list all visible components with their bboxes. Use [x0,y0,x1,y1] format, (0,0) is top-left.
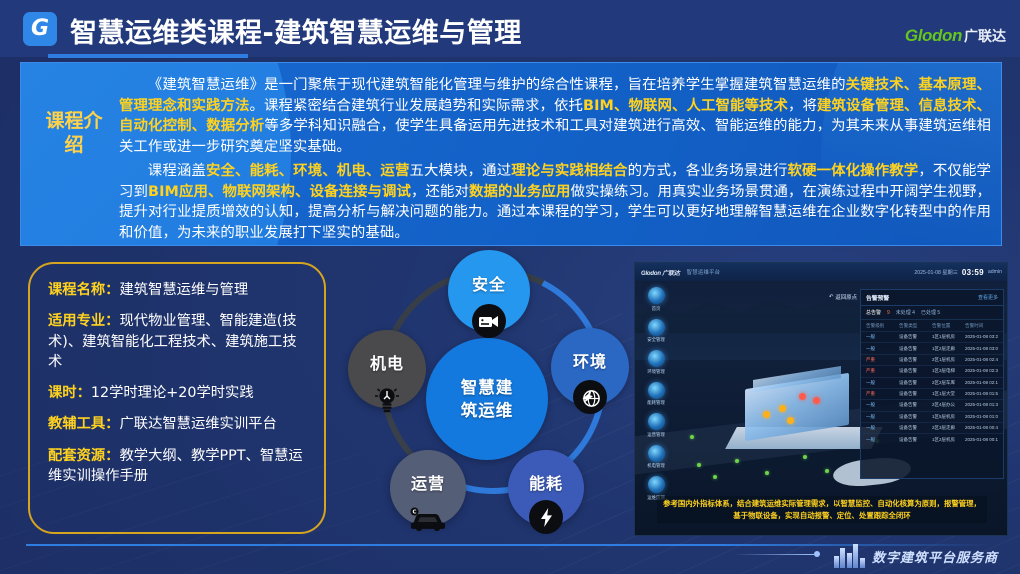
alarm-cell-level: 一般 [866,414,899,420]
alarm-cell-type: 设备告警 [899,334,932,340]
alarm-table-row[interactable]: 一般设备告警2区4层办公2025-01-08 01:32 [861,399,1003,410]
diagram-node-safety[interactable]: 安全 [448,250,530,332]
alarm-panel: 告警预警 查看更多 总告警9未处理 4已处理 5 告警级别告警类型告警位置告警时… [860,289,1004,479]
alarm-cell-type: 设备告警 [899,425,932,431]
diagram-node-energy[interactable]: 能耗 [508,450,584,526]
alarm-tab[interactable]: 总告警 [866,309,881,316]
diagram-node-mechanical-label: 机电 [370,350,404,374]
screenshot-brand: Glodon 广联达 [641,268,680,277]
alarm-cell-type: 设备告警 [899,391,932,397]
footer-brand: 数字建筑平台服务商 [834,544,998,568]
body-text: ，将 [788,98,817,114]
alarm-table-body: 一般设备告警1区1层机房2025-01-08 03:21一般设备告警1区2层走廊… [861,331,1003,445]
sidebar-module-icon [648,382,665,399]
course-info-key: 教辅工具： [48,416,119,432]
alarm-table-row[interactable]: 一般设备告警2区2层车库2025-01-08 02:10 [861,377,1003,388]
highlighted-text: BIM应用、物联网架构、设备连接与调试 [148,184,411,200]
building-marker [787,417,794,424]
alarm-cell-loc: 2区1层机房 [932,357,965,363]
highlighted-text: 安全、能耗、环境、机电、运营 [206,163,410,179]
course-info-value: 12学时理论+20学时实践 [91,385,254,401]
screenshot-user: admin [988,269,1002,275]
diagram-node-environment[interactable]: 环境 [551,328,629,406]
brand-name-en: Glodon [905,26,962,46]
course-info-key: 适用专业： [48,313,119,329]
alarm-cell-loc: 2区3层走廊 [932,425,965,431]
footer-lead-line [734,554,814,555]
screenshot-tree [713,475,717,479]
alarm-tab[interactable]: 已处理 5 [921,309,940,316]
screenshot-reset-view-button[interactable]: ↶ 返回原点 [829,293,857,301]
alarm-tab[interactable]: 9 [887,310,890,316]
alarm-table-row[interactable]: 一般设备告警1区2层走廊2025-01-08 03:02 [861,342,1003,353]
sidebar-module-icon [648,476,665,493]
glodon-g-logo-letter: G [31,18,49,40]
alarm-table-row[interactable]: 一般设备告警1区5层机房2025-01-08 01:08 [861,411,1003,422]
alarm-cell-level: 一般 [866,437,899,443]
diagram-node-operation[interactable]: 运营 C [390,450,466,526]
brand-logo: Glodon 广联达 [905,26,1006,46]
alarm-cell-loc: 2区4层办公 [932,402,965,408]
course-info-key: 配套资源： [48,448,119,464]
page-title: 智慧运维类课程-建筑智慧运维与管理 [70,10,522,50]
course-info-row: 教辅工具：广联达智慧运维实训平台 [48,414,308,434]
screenshot-tree [690,435,694,439]
course-info-card: 课程名称：建筑智慧运维与管理适用专业：现代物业管理、智能建造(技术)、建筑智能化… [28,262,326,534]
sidebar-module-label: 环境管理 [647,369,665,375]
alarm-table-row[interactable]: 严重设备告警1区1层大堂2025-01-08 01:55 [861,388,1003,399]
alarm-cell-loc: 1区3层电梯 [932,368,965,374]
course-info-row: 配套资源：教学大纲、教学PPT、智慧运维实训操作手册 [48,446,308,487]
screenshot-sidebar-item[interactable]: 运营管理 [639,413,673,438]
body-text: 五大模块，通过 [409,163,511,179]
alarm-cell-type: 设备告警 [899,380,932,386]
screenshot-caption: 参考国内外指标体系，结合建筑运维实际管理需求，以智慧监控、自动化核算为原则，报警… [657,496,987,523]
alarm-panel-title: 告警预警 [866,293,889,302]
screenshot-topbar: Glodon 广联达 智慧运维平台 2025-01-08 星期三 03:59 a… [635,263,1007,281]
sidebar-module-icon [648,413,665,430]
alarm-cell-time: 2025-01-08 03:02 [965,346,998,352]
alarm-cell-loc: 2区2层车库 [932,380,965,386]
alarm-cell-type: 设备告警 [899,357,932,363]
course-info-key: 课时： [48,385,91,401]
glodon-g-logo-icon: G [23,12,57,46]
screenshot-tree [735,459,739,463]
skyline-icon [834,544,865,568]
alarm-cell-type: 设备告警 [899,368,932,374]
alarm-cell-level: 一般 [866,334,899,340]
alarm-cell-time: 2025-01-08 02:47 [965,357,998,363]
sidebar-module-label: 首页 [652,306,661,312]
building-marker [763,411,770,418]
screenshot-date: 2025-01-08 星期三 [914,269,958,276]
building-marker [779,405,786,412]
alarm-cell-loc: 1区5层机房 [932,414,965,420]
screenshot-sidebar-item[interactable]: 首页 [639,287,673,312]
alarm-cell-time: 2025-01-08 00:19 [965,437,998,443]
screenshot-sidebar-item[interactable]: 安全管理 [639,319,673,344]
video-camera-icon [472,304,506,338]
alarm-cell-time: 2025-01-08 00:47 [965,425,998,431]
alarm-cell-level: 一般 [866,425,899,431]
screenshot-tree [697,463,701,467]
alarm-cell-loc: 1区1层机房 [932,334,965,340]
course-info-value: 建筑智慧运维与管理 [119,282,248,298]
globe-arrow-icon [573,380,607,414]
alarm-cell-loc: 1区2层走廊 [932,346,965,352]
alarm-column-header: 告警级别 [866,323,899,329]
diagram-node-energy-label: 能耗 [529,470,563,494]
alarm-table-row[interactable]: 一般设备告警1区2层机房2025-01-08 00:19 [861,433,1003,444]
sidebar-module-icon [648,319,665,336]
alarm-cell-level: 严重 [866,368,899,374]
course-intro-text: 《建筑智慧运维》是一门聚焦于现代建筑智能化管理与维护的综合性课程，旨在培养学生掌… [119,75,991,246]
course-intro-paragraph: 课程涵盖安全、能耗、环境、机电、运营五大模块，通过理论与实践相结合的方式，各业务… [119,161,991,244]
course-modules-diagram: 智慧建筑运维 安全 环境 [336,250,648,550]
alarm-table-row[interactable]: 严重设备告警1区3层电梯2025-01-08 02:33 [861,365,1003,376]
sidebar-module-label: 机电管理 [647,463,665,469]
alarm-table-row[interactable]: 一般设备告警2区3层走廊2025-01-08 00:47 [861,422,1003,433]
alarm-cell-time: 2025-01-08 01:55 [965,391,998,397]
footer-dot [814,551,820,557]
alarm-table-header: 告警级别告警类型告警位置告警时间 [861,320,1003,331]
alarm-cell-type: 设备告警 [899,346,932,352]
screenshot-subtitle: 智慧运维平台 [687,268,721,276]
sidebar-module-label: 能耗管理 [647,400,665,406]
alarm-cell-level: 一般 [866,402,899,408]
diagram-node-environment-label: 环境 [573,348,607,372]
course-intro-paragraph: 《建筑智慧运维》是一门聚焦于现代建筑智能化管理与维护的综合性课程，旨在培养学生掌… [119,75,991,158]
highlighted-text: 数据的业务应用 [469,184,571,200]
diagram-node-center: 智慧建筑运维 [426,338,548,460]
alarm-cell-level: 严重 [866,357,899,363]
alarm-cell-time: 2025-01-08 02:10 [965,380,998,386]
screenshot-tree [825,469,829,473]
svg-text:C: C [413,510,417,516]
reset-view-label: 返回原点 [835,293,857,301]
highlighted-text: 软硬一体化操作教学 [787,163,918,179]
screenshot-clock: 2025-01-08 星期三 03:59 admin [914,268,1002,277]
sidebar-module-icon [648,287,665,304]
course-info-row: 课程名称：建筑智慧运维与管理 [48,280,308,300]
alarm-column-header: 告警类型 [899,323,932,329]
alarm-cell-level: 严重 [866,391,899,397]
reset-arrow-icon: ↶ [829,294,834,300]
alarm-cell-type: 设备告警 [899,402,932,408]
alarm-panel-tabs[interactable]: 总告警9未处理 4已处理 5 [861,306,1003,320]
screenshot-sidebar-item[interactable]: 机电管理 [639,445,673,470]
sidebar-module-icon [648,445,665,462]
course-intro-panel: 课程介绍 《建筑智慧运维》是一门聚焦于现代建筑智能化管理与维护的综合性课程，旨在… [20,62,1002,246]
diagram-center-label: 智慧建筑运维 [461,376,514,422]
alarm-cell-type: 设备告警 [899,437,932,443]
alarm-cell-loc: 1区1层大堂 [932,391,965,397]
building-marker-alert [799,393,806,400]
alarm-tab[interactable]: 未处理 4 [896,309,915,316]
screenshot-sidebar-item[interactable]: 能耗管理 [639,382,673,407]
alarm-cell-time: 2025-01-08 03:21 [965,334,998,340]
screenshot-sidebar-item[interactable]: 环境管理 [639,350,673,375]
diagram-node-mechanical[interactable]: 机电 [348,330,426,408]
body-text: 课程涵盖 [148,163,206,179]
alarm-cell-time: 2025-01-08 02:33 [965,368,998,374]
body-text: 的方式，各业务场景进行 [628,163,788,179]
alarm-cell-type: 设备告警 [899,414,932,420]
course-info-key: 课程名称： [48,282,119,298]
course-info-row: 课时：12学时理论+20学时实践 [48,383,308,403]
course-intro-tab-label: 课程介绍 [37,109,111,158]
screenshot-tree [765,471,769,475]
alarm-cell-time: 2025-01-08 01:08 [965,414,998,420]
screenshot-time: 03:59 [962,268,984,277]
alarm-cell-time: 2025-01-08 01:32 [965,402,998,408]
alarm-panel-more-link[interactable]: 查看更多 [978,294,998,301]
brand-name-cn: 广联达 [964,26,1006,46]
body-text: ，还能对 [411,184,469,200]
screenshot-sidebar[interactable]: 首页安全管理环境管理能耗管理运营管理机电管理运维监测 [639,287,673,508]
screenshot-tree [803,455,807,459]
platform-screenshot: Glodon 广联达 智慧运维平台 2025-01-08 星期三 03:59 a… [634,262,1008,536]
slide-header: G 智慧运维类课程-建筑智慧运维与管理 Glodon 广联达 [0,0,1020,57]
light-bulb-icon [372,384,402,414]
header-underline [48,54,248,58]
slide-root: G 智慧运维类课程-建筑智慧运维与管理 Glodon 广联达 课程介绍 《建筑智… [0,0,1020,574]
alarm-table-row[interactable]: 一般设备告警1区1层机房2025-01-08 03:21 [861,331,1003,342]
footer-brand-text: 数字建筑平台服务商 [872,547,998,566]
lightning-bolt-icon [529,500,563,534]
alarm-cell-level: 一般 [866,346,899,352]
sidebar-module-icon [648,350,665,367]
building-marker-alert [813,397,820,404]
alarm-cell-loc: 1区2层机房 [932,437,965,443]
diagram-node-safety-label: 安全 [472,271,506,295]
highlighted-text: BIM、物联网、人工智能等技术 [583,98,788,114]
alarm-column-header: 告警时间 [965,323,998,329]
sidebar-module-label: 安全管理 [647,337,665,343]
sidebar-module-label: 运营管理 [647,432,665,438]
car-icon: C [409,504,447,534]
course-info-value: 广联达智慧运维实训平台 [119,416,276,432]
highlighted-text: 理论与实践相结合 [511,163,627,179]
diagram-node-operation-label: 运营 [411,470,445,494]
body-text: 。课程紧密结合建筑行业发展趋势和实际需求，依托 [250,98,584,114]
alarm-panel-header: 告警预警 查看更多 [861,290,1003,306]
alarm-cell-level: 一般 [866,380,899,386]
alarm-column-header: 告警位置 [932,323,965,329]
screenshot-building-model [727,371,877,455]
alarm-table-row[interactable]: 严重设备告警2区1层机房2025-01-08 02:47 [861,354,1003,365]
course-info-row: 适用专业：现代物业管理、智能建造(技术)、建筑智能化工程技术、建筑施工技术 [48,311,308,372]
body-text: 《建筑智慧运维》是一门聚焦于现代建筑智能化管理与维护的综合性课程，旨在培养学生掌… [148,77,846,93]
